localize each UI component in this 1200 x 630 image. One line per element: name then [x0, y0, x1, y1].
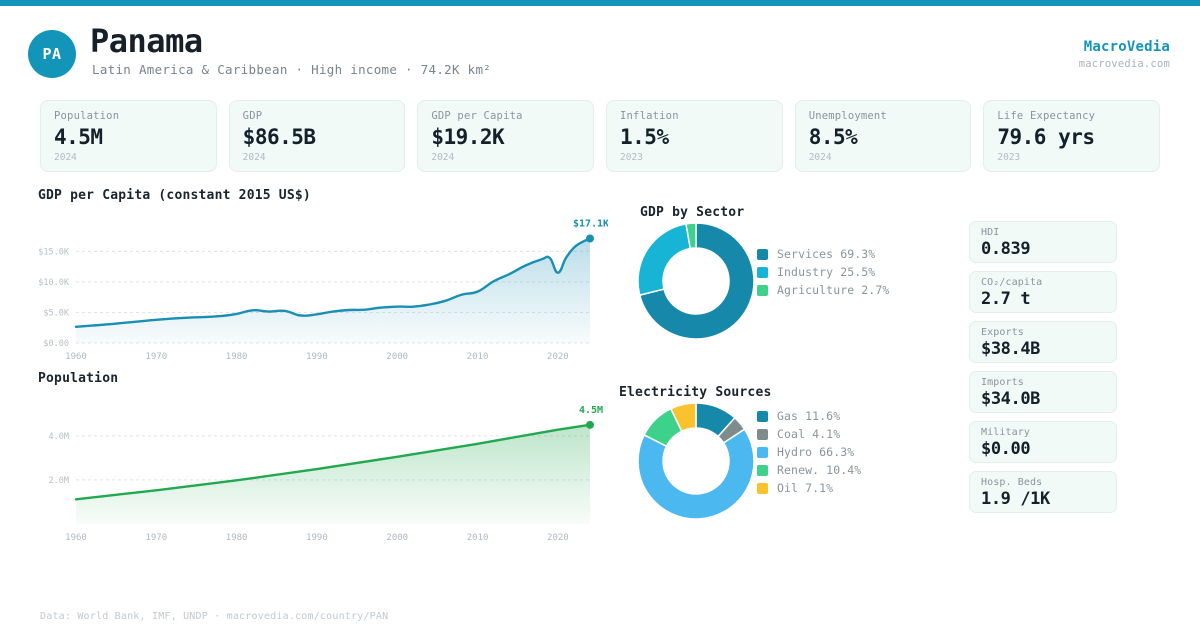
legend-label: Hydro 66.3%	[777, 445, 854, 459]
avatar-initials: PA	[42, 45, 61, 63]
legend-item[interactable]: Renew. 10.4%	[757, 461, 861, 479]
stat-label: Life Expectancy	[997, 110, 1146, 122]
x-tick-label: 1960	[65, 533, 87, 543]
indicator-value: 0.839	[981, 239, 1105, 259]
x-tick-label: 1980	[226, 352, 248, 362]
stat-value: 1.5%	[620, 125, 769, 149]
legend-label: Gas 11.6%	[777, 409, 840, 423]
legend-swatch	[757, 411, 768, 422]
gdp-by-sector-legend: Services 69.3%Industry 25.5%Agriculture …	[757, 245, 889, 299]
x-tick-label: 1970	[145, 352, 167, 362]
stat-label: GDP	[243, 110, 392, 122]
stat-card: Life Expectancy79.6 yrs2023	[983, 100, 1160, 172]
legend-label: Industry 25.5%	[777, 265, 875, 279]
x-tick-label: 1980	[226, 533, 248, 543]
legend-swatch	[757, 249, 768, 260]
indicator-card: Exports$38.4B	[969, 321, 1117, 363]
legend-item[interactable]: Oil 7.1%	[757, 479, 861, 497]
country-meta: Latin America & Caribbean · High income …	[92, 62, 491, 77]
area-fill	[76, 425, 590, 524]
legend-item[interactable]: Hydro 66.3%	[757, 443, 861, 461]
indicator-card: Military$0.00	[969, 421, 1117, 463]
gdp-by-sector-title: GDP by Sector	[640, 205, 744, 220]
x-tick-label: 2000	[386, 352, 408, 362]
electricity_sources-svg	[637, 402, 755, 520]
key-stats-row: Population4.5M2024GDP$86.5B2024GDP per C…	[40, 100, 1160, 172]
x-tick-label: 2010	[467, 352, 489, 362]
x-tick-label: 1970	[145, 533, 167, 543]
indicator-card: CO₂/capita2.7 t	[969, 271, 1117, 313]
x-tick-label: 1990	[306, 533, 328, 543]
stat-value: 4.5M	[54, 125, 203, 149]
end-point-label: $17.1K	[573, 219, 608, 230]
stat-year: 2024	[54, 152, 203, 163]
x-tick-label: 1960	[65, 352, 87, 362]
legend-item[interactable]: Industry 25.5%	[757, 263, 889, 281]
y-tick-label: $10.0K	[38, 278, 70, 288]
legend-label: Coal 4.1%	[777, 427, 840, 441]
stat-card: Population4.5M2024	[40, 100, 217, 172]
electricity-sources-donut	[637, 402, 755, 520]
y-tick-label: 4.0M	[49, 432, 69, 442]
stat-card: Inflation1.5%2023	[606, 100, 783, 172]
x-tick-label: 2000	[386, 533, 408, 543]
indicator-label: Military	[981, 427, 1105, 438]
stat-card: GDP per Capita$19.2K2024	[417, 100, 594, 172]
indicator-label: CO₂/capita	[981, 277, 1105, 288]
stat-value: $19.2K	[431, 125, 580, 149]
population-svg: 2.0M4.0M19601970198019902000201020204.5M	[38, 388, 608, 546]
population-chart: 2.0M4.0M19601970198019902000201020204.5M	[38, 388, 608, 546]
gdp-by-sector-donut	[637, 222, 755, 340]
footer-source: Data: World Bank, IMF, UNDP · macrovedia…	[40, 611, 388, 622]
stat-label: GDP per Capita	[431, 110, 580, 122]
legend-swatch	[757, 447, 768, 458]
indicator-label: Imports	[981, 377, 1105, 388]
indicator-value: $38.4B	[981, 339, 1105, 359]
indicator-value: $0.00	[981, 439, 1105, 459]
stat-year: 2024	[243, 152, 392, 163]
brand-url: macrovedia.com	[1079, 58, 1170, 70]
brand-name: MacroVedia	[1079, 39, 1170, 55]
legend-label: Agriculture 2.7%	[777, 283, 889, 297]
end-point-label: 4.5M	[579, 405, 603, 416]
stat-year: 2023	[620, 152, 769, 163]
gdp-per-capita-chart: $0.00$5.0K$10.0K$15.0K196019701980199020…	[38, 205, 608, 365]
y-tick-label: 2.0M	[49, 476, 69, 486]
indicator-label: HDI	[981, 227, 1105, 238]
indicator-cards-column: HDI0.839CO₂/capita2.7 tExports$38.4BImpo…	[969, 221, 1117, 513]
electricity-sources-title: Electricity Sources	[619, 385, 772, 400]
legend-label: Oil 7.1%	[777, 481, 833, 495]
donut-slice[interactable]	[638, 224, 690, 295]
x-tick-label: 1990	[306, 352, 328, 362]
end-point-marker	[586, 235, 594, 243]
end-point-marker	[586, 421, 594, 429]
legend-swatch	[757, 285, 768, 296]
area-fill	[76, 239, 590, 344]
x-tick-label: 2010	[467, 533, 489, 543]
stat-value: $86.5B	[243, 125, 392, 149]
stat-year: 2024	[431, 152, 580, 163]
brand[interactable]: MacroVedia macrovedia.com	[1079, 39, 1170, 70]
x-tick-label: 2020	[547, 533, 569, 543]
indicator-value: 1.9 /1K	[981, 489, 1105, 509]
stat-value: 79.6 yrs	[997, 125, 1146, 149]
legend-item[interactable]: Gas 11.6%	[757, 407, 861, 425]
country-avatar: PA	[28, 30, 76, 78]
y-tick-label: $15.0K	[38, 247, 70, 257]
electricity-sources-legend: Gas 11.6%Coal 4.1%Hydro 66.3%Renew. 10.4…	[757, 407, 861, 497]
legend-swatch	[757, 267, 768, 278]
gdp_per_capita-svg: $0.00$5.0K$10.0K$15.0K196019701980199020…	[38, 205, 608, 365]
y-tick-label: $5.0K	[43, 308, 69, 318]
legend-label: Renew. 10.4%	[777, 463, 861, 477]
legend-item[interactable]: Agriculture 2.7%	[757, 281, 889, 299]
stat-value: 8.5%	[809, 125, 958, 149]
indicator-card: HDI0.839	[969, 221, 1117, 263]
stat-year: 2024	[809, 152, 958, 163]
page-title: Panama	[90, 22, 203, 60]
indicator-value: $34.0B	[981, 389, 1105, 409]
legend-label: Services 69.3%	[777, 247, 875, 261]
indicator-card: Imports$34.0B	[969, 371, 1117, 413]
legend-item[interactable]: Coal 4.1%	[757, 425, 861, 443]
gdp_by_sector-svg	[637, 222, 755, 340]
legend-swatch	[757, 465, 768, 476]
stat-card: GDP$86.5B2024	[229, 100, 406, 172]
stat-card: Unemployment8.5%2024	[795, 100, 972, 172]
indicator-label: Hosp. Beds	[981, 477, 1105, 488]
page-header: PA Panama Latin America & Caribbean · Hi…	[0, 6, 1200, 92]
stat-year: 2023	[997, 152, 1146, 163]
legend-swatch	[757, 429, 768, 440]
stat-label: Inflation	[620, 110, 769, 122]
legend-swatch	[757, 483, 768, 494]
gdp-per-capita-chart-title: GDP per Capita (constant 2015 US$)	[38, 188, 311, 203]
country-profile-page: PA Panama Latin America & Caribbean · Hi…	[0, 0, 1200, 630]
population-chart-title: Population	[38, 371, 118, 386]
legend-item[interactable]: Services 69.3%	[757, 245, 889, 263]
indicator-label: Exports	[981, 327, 1105, 338]
stat-label: Population	[54, 110, 203, 122]
stat-label: Unemployment	[809, 110, 958, 122]
y-tick-label: $0.00	[43, 339, 69, 349]
indicator-value: 2.7 t	[981, 289, 1105, 309]
x-tick-label: 2020	[547, 352, 569, 362]
indicator-card: Hosp. Beds1.9 /1K	[969, 471, 1117, 513]
donut-slice[interactable]	[638, 429, 754, 519]
